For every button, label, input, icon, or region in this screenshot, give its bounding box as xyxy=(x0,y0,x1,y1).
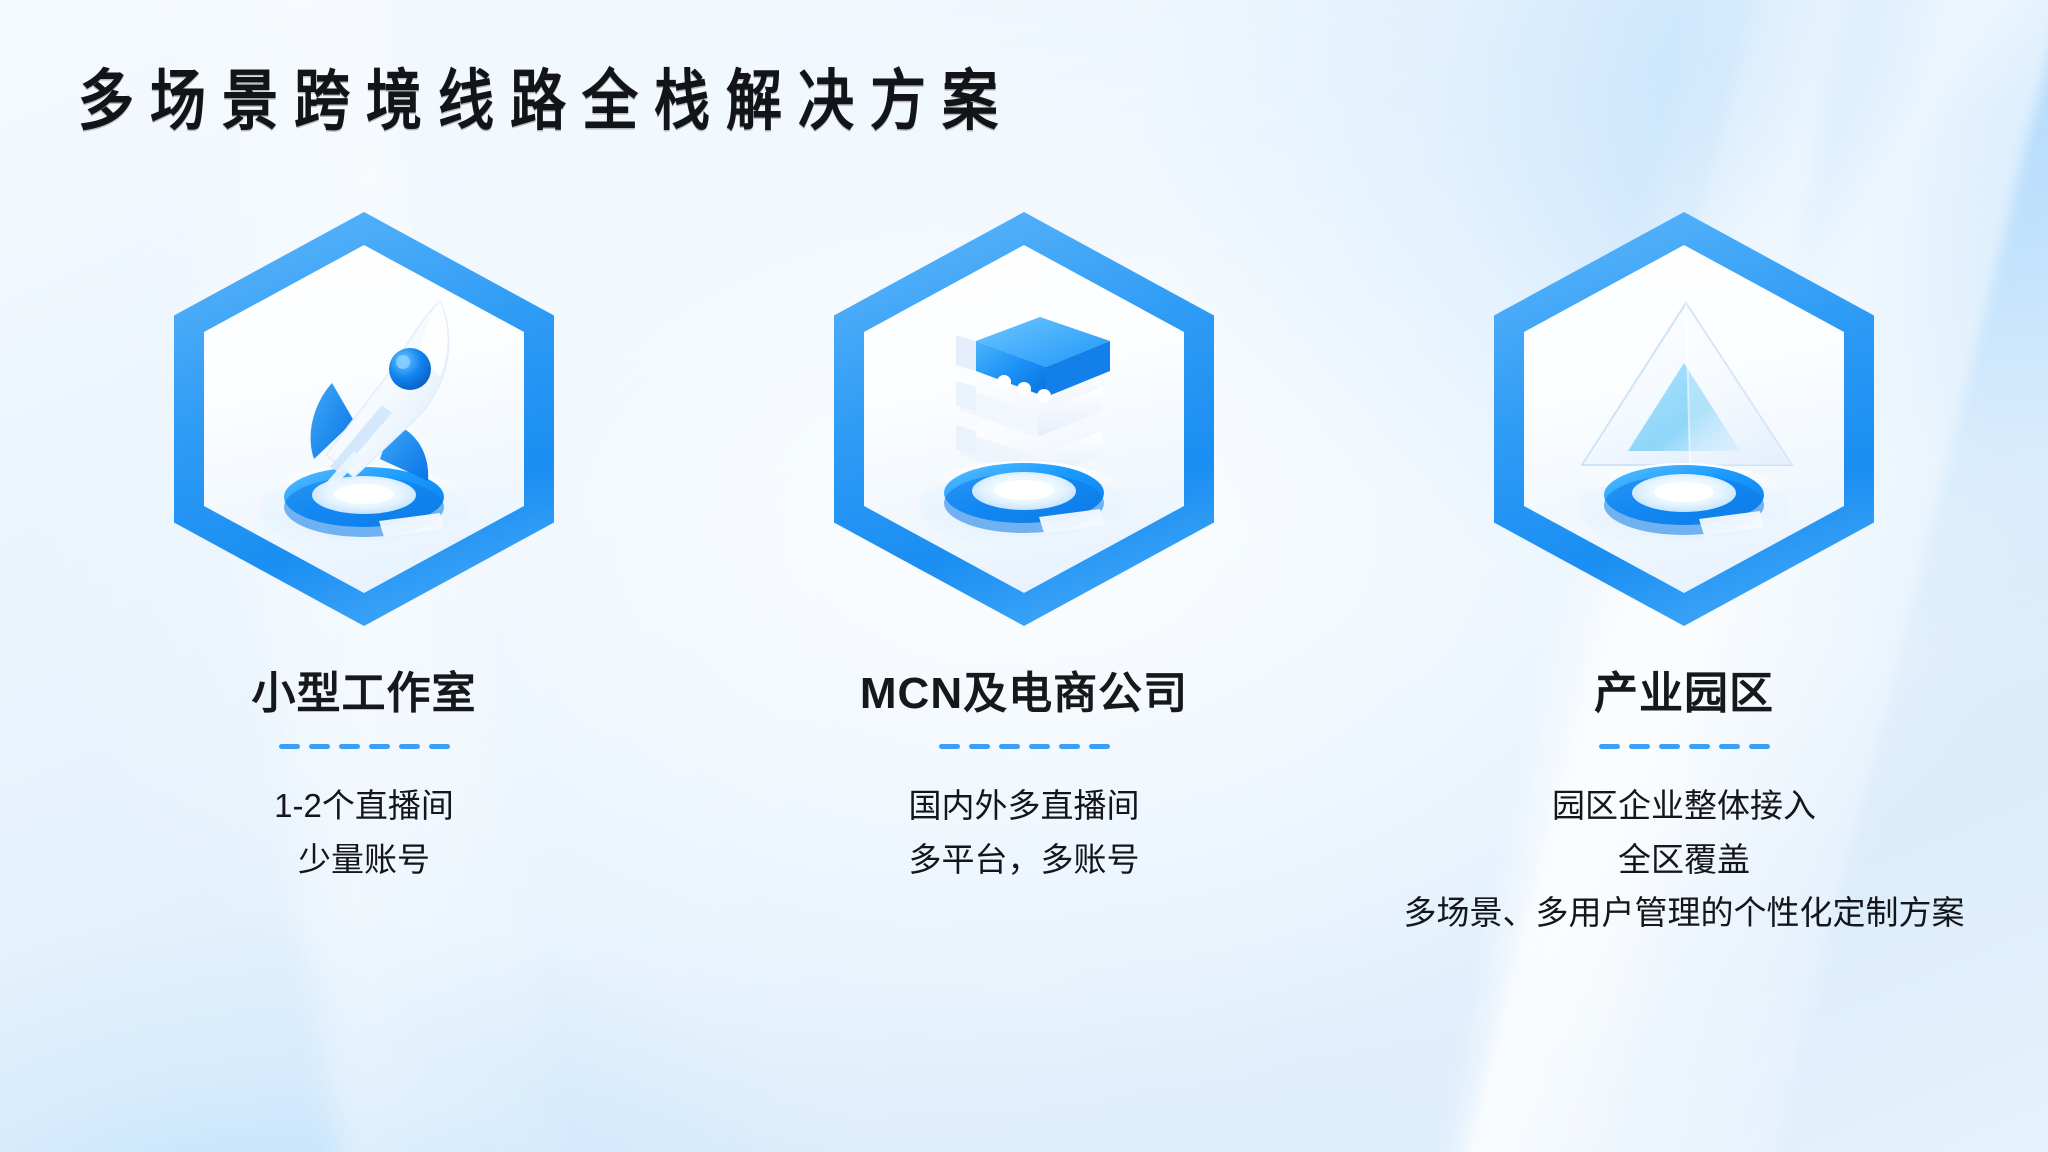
card-desc-line: 国内外多直播间 xyxy=(909,779,1140,832)
card-description: 园区企业整体接入 全区覆盖 多场景、多用户管理的个性化定制方案 xyxy=(1404,779,1965,939)
solution-card: 小型工作室 1-2个直播间 少量账号 xyxy=(34,212,694,886)
card-divider xyxy=(1599,744,1770,749)
card-title: 小型工作室 xyxy=(252,670,477,718)
card-divider xyxy=(939,744,1110,749)
card-desc-line: 多场景、多用户管理的个性化定制方案 xyxy=(1404,886,1965,939)
card-desc-line: 全区覆盖 xyxy=(1404,833,1965,886)
card-desc-line: 少量账号 xyxy=(274,833,454,886)
hexagon-badge xyxy=(1494,212,1874,626)
card-title: 产业园区 xyxy=(1594,670,1774,718)
card-description: 国内外多直播间 多平台，多账号 xyxy=(909,779,1140,886)
hexagon-badge xyxy=(834,212,1214,626)
card-title: MCN及电商公司 xyxy=(860,670,1188,718)
card-divider xyxy=(279,744,450,749)
poster-stage: 多场景跨境线路全栈解决方案 xyxy=(0,0,2048,1152)
page-title: 多场景跨境线路全栈解决方案 xyxy=(78,60,1014,143)
card-desc-line: 多平台，多账号 xyxy=(909,833,1140,886)
hexagon-badge xyxy=(174,212,554,626)
card-desc-line: 1-2个直播间 xyxy=(274,779,454,832)
solution-card: MCN及电商公司 国内外多直播间 多平台，多账号 xyxy=(694,212,1354,886)
solution-cards-row: 小型工作室 1-2个直播间 少量账号 xyxy=(0,212,2048,940)
card-desc-line: 园区企业整体接入 xyxy=(1404,779,1965,832)
solution-card: 产业园区 园区企业整体接入 全区覆盖 多场景、多用户管理的个性化定制方案 xyxy=(1354,212,2014,940)
card-description: 1-2个直播间 少量账号 xyxy=(274,779,454,886)
